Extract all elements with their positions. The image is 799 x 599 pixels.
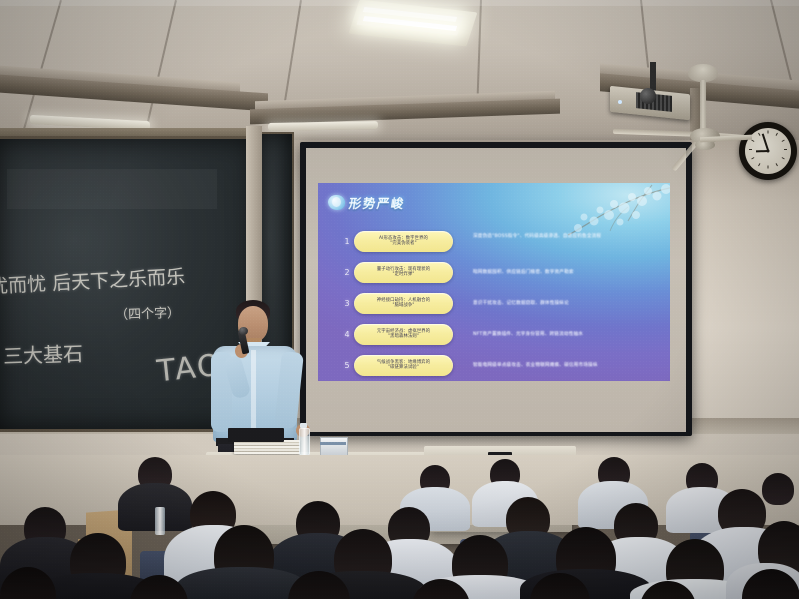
slide-row: 1 AI形态攻击：数字世界的 "完美伪装者" xyxy=(340,231,453,252)
slide-row: 4 元宇宙经济战：虚拟世界的 "黑暗森林法则" xyxy=(340,324,453,345)
bottle-cap xyxy=(300,423,307,428)
row-pill-line2: "完美伪装者" xyxy=(390,242,417,247)
projector-mount-arm xyxy=(650,62,656,92)
chalk-smudge xyxy=(7,169,217,209)
row-pill-line2: "黑暗森林法则" xyxy=(388,335,419,340)
slide-row: 3 神经接口劫持：人机融合的 "脑域战争" xyxy=(340,293,453,314)
audience-area xyxy=(0,455,799,599)
row-number: 5 xyxy=(340,361,354,370)
row-number: 1 xyxy=(340,237,354,246)
wall-clock xyxy=(739,122,797,180)
microphone-head xyxy=(239,327,248,335)
audience-head xyxy=(762,473,794,505)
laptop-closed xyxy=(228,428,284,442)
row-description: NFT资产置换插件、元宇身份冒用、跨链流动性抽水 xyxy=(473,331,583,338)
slide-title-group: 形势严峻 xyxy=(328,193,405,212)
row-pill: 量子动行攻击：现有理状的 "定时炸弹" xyxy=(354,262,453,283)
slide-row: 5 气候战争黑客：地缘博弈的 "碳链算法试验" xyxy=(340,355,453,376)
row-pill: 神经接口劫持：人机融合的 "脑域战争" xyxy=(354,293,453,314)
slide-title: 形势严峻 xyxy=(348,193,407,212)
tissue-box xyxy=(320,437,348,456)
blackboard-line3: 三大基石 xyxy=(3,338,84,370)
row-pill-line2: "定时炸弹" xyxy=(392,273,414,278)
row-number: 2 xyxy=(340,268,354,277)
blackboard-line2: （四个字） xyxy=(115,302,181,323)
clock-center-pin xyxy=(767,150,770,153)
projector-indicator-light xyxy=(618,100,622,104)
row-pill: AI形态攻击：数字世界的 "完美伪装者" xyxy=(354,231,453,252)
row-number: 3 xyxy=(340,299,354,308)
row-pill-line2: "脑域战争" xyxy=(392,304,414,309)
cloud-badge-icon xyxy=(328,195,345,210)
classroom-photo: 忧而忧 后天下之乐而乐 （四个字） 三大基石 TAO 形势严峻 xyxy=(0,0,799,599)
water-bottle xyxy=(299,428,310,456)
books-stack xyxy=(234,440,300,454)
presentation-slide: 形势严峻 1 AI形态攻击：数字世界的 "完美伪装者" 深度伪造"BOSS指令"… xyxy=(318,183,670,381)
row-number: 4 xyxy=(340,330,354,339)
row-pill: 气候战争黑客：地缘博弈的 "碳链算法试验" xyxy=(354,355,453,376)
row-pill-line2: "碳链算法试验" xyxy=(388,366,419,371)
row-description: 深度伪造"BOSS指令"、代码级高级渗透、自适应钓鱼全流程 xyxy=(473,233,601,240)
row-description: 智能电网级单点级攻击、农业物联网瘫痪、碳信用市场操纵 xyxy=(473,362,598,369)
tissue-box-band xyxy=(320,442,346,445)
row-pill: 元宇宙经济战：虚拟世界的 "黑暗森林法则" xyxy=(354,324,453,345)
blackboard-line1: 忧而忧 后天下之乐而乐 xyxy=(0,262,186,299)
projector-lens xyxy=(640,88,656,104)
slide-row: 2 量子动行攻击：现有理状的 "定时炸弹" xyxy=(340,262,453,283)
row-description: 意识干扰攻击、记忆数据窃取、群体性操纵论 xyxy=(473,300,569,307)
water-bottle xyxy=(155,507,165,535)
presenter-shirt-placket xyxy=(251,350,256,436)
row-description: 暗网数据囤积、供应链后门植密、数字资产勒索 xyxy=(473,269,574,276)
